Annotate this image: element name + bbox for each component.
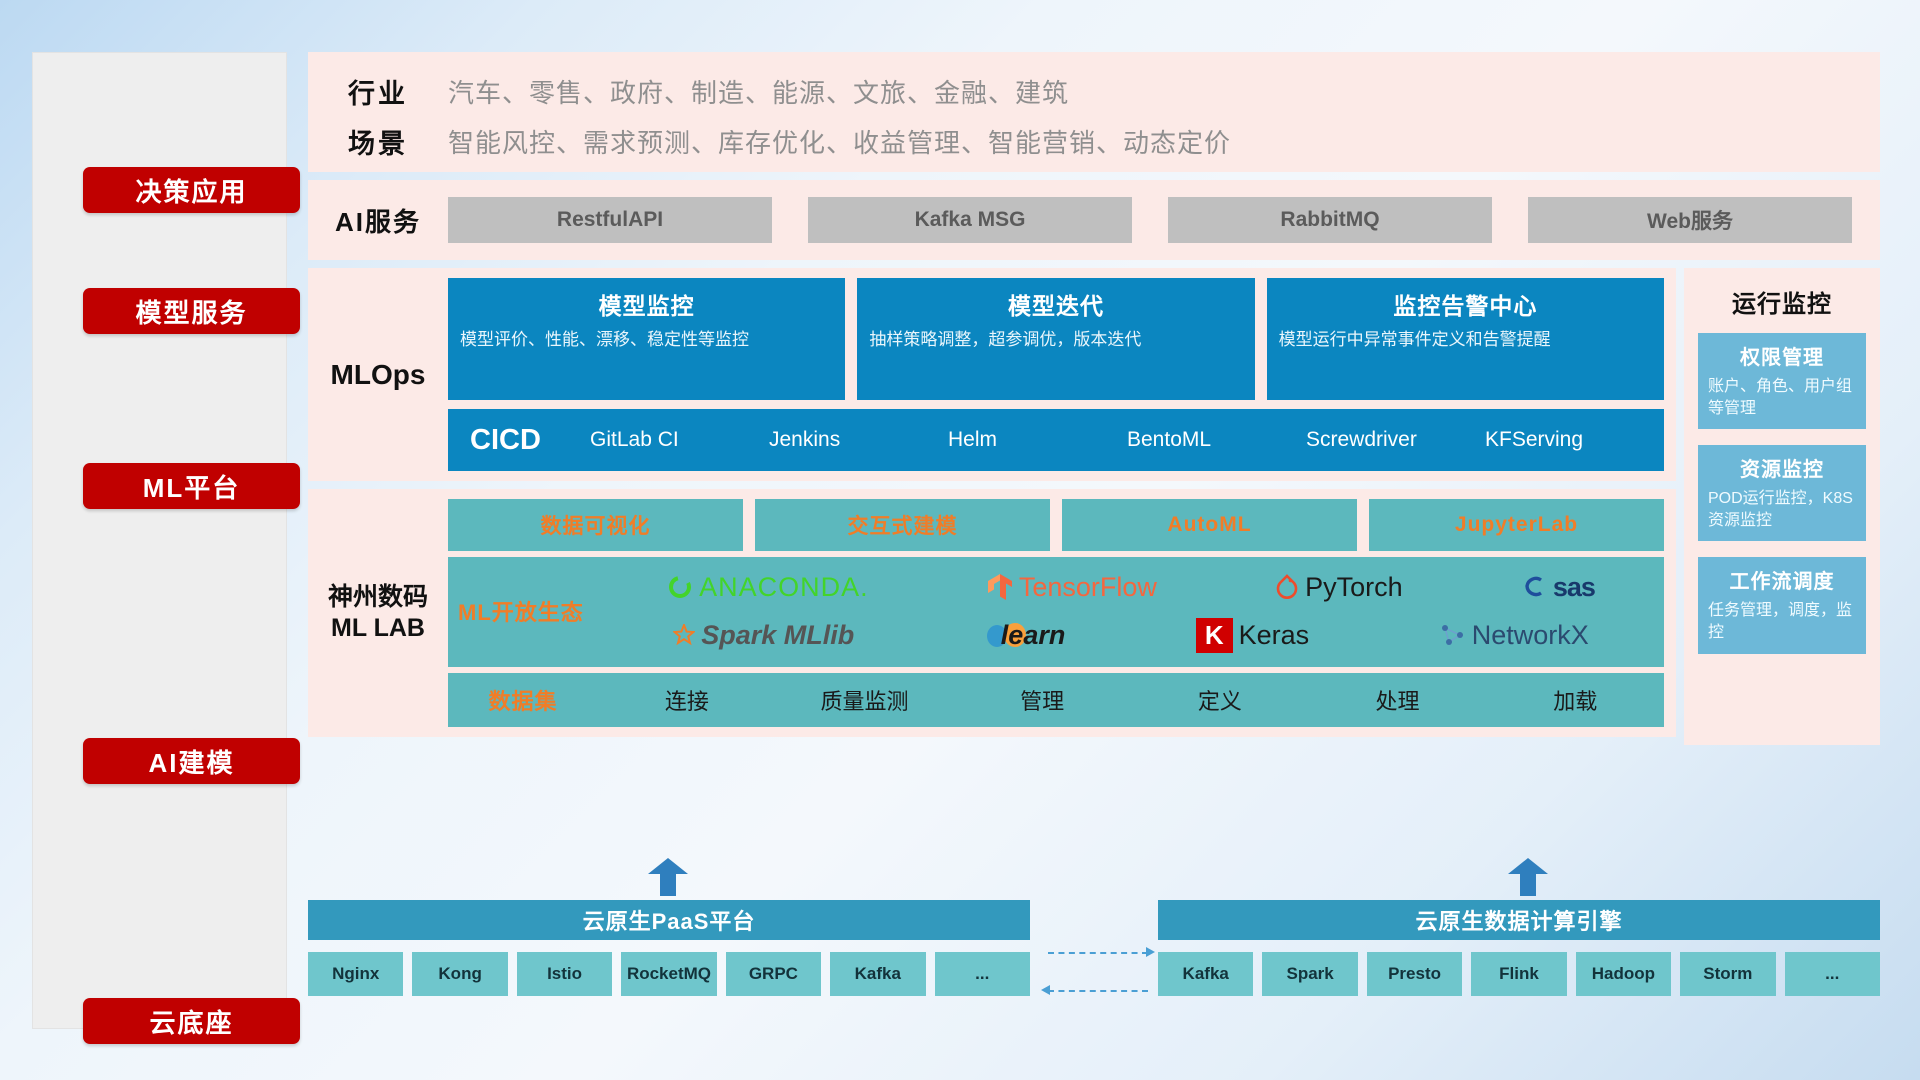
architecture-diagram: 决策应用 模型服务 ML平台 AI建模 云底座 行业 汽车、零售、政府、制造、能… <box>0 0 1920 1080</box>
compute-chip-storm[interactable]: Storm <box>1680 952 1775 996</box>
arrow-up-paas-icon <box>648 858 688 896</box>
stage-chip-label: ML平台 <box>143 468 241 505</box>
stage-chip-label: AI建模 <box>148 743 234 780</box>
scenario-label: 场景 <box>308 122 448 161</box>
ecosystem-logo-grid: ANACONDA. TensorFlow PyTorch <box>608 563 1654 659</box>
cicd-tool-gitlab-ci[interactable]: GitLab CI <box>590 429 769 451</box>
industry-scenario-band: 行业 汽车、零售、政府、制造、能源、文旅、金融、建筑 场景 智能风控、需求预测、… <box>308 52 1880 172</box>
industry-values: 汽车、零售、政府、制造、能源、文旅、金融、建筑 <box>448 73 1069 110</box>
dataset-row: 数据集 连接 质量监测 管理 定义 处理 加载 <box>448 673 1664 727</box>
sas-logo: sas <box>1521 572 1595 603</box>
scikit-learn-logo-text: learn <box>1001 620 1066 651</box>
ecosystem-logo-row-2: Spark MLlib learn K Keras <box>608 611 1654 659</box>
ml-open-ecosystem: ML开放生态 ANACONDA. TensorFlow <box>448 557 1664 667</box>
mlops-card-model-iteration[interactable]: 模型迭代 抽样策略调整，超参调优，版本迭代 <box>857 278 1254 400</box>
tensorflow-logo: TensorFlow <box>987 572 1157 603</box>
paas-platform-group: 云原生PaaS平台 Nginx Kong Istio RocketMQ GRPC… <box>308 900 1030 996</box>
compute-chip-spark[interactable]: Spark <box>1262 952 1357 996</box>
stage-chip-decision-app[interactable]: 决策应用 <box>83 167 300 213</box>
paas-chip-more[interactable]: ... <box>935 952 1030 996</box>
monitor-card-desc: POD运行监控，K8S资源监控 <box>1708 488 1856 531</box>
platform-left-column: MLOps 模型监控 模型评价、性能、漂移、稳定性等监控 模型迭代 抽样策略调整… <box>308 268 1676 745</box>
monitor-card-title: 权限管理 <box>1708 341 1856 370</box>
cloud-base-section: 云原生PaaS平台 Nginx Kong Istio RocketMQ GRPC… <box>308 890 1880 1030</box>
connector-arrow-right-icon <box>1146 947 1155 957</box>
ml-lab-label-line1: 神州数码 <box>308 582 448 613</box>
data-compute-engine-title: 云原生数据计算引擎 <box>1158 900 1880 940</box>
tool-tab-interactive-modeling[interactable]: 交互式建模 <box>755 499 1050 551</box>
mlops-body: 模型监控 模型评价、性能、漂移、稳定性等监控 模型迭代 抽样策略调整，超参调优，… <box>448 278 1676 471</box>
stage-chip-label: 模型服务 <box>135 293 247 330</box>
industry-label: 行业 <box>308 72 448 111</box>
compute-chip-presto[interactable]: Presto <box>1367 952 1462 996</box>
ml-lab-label: 神州数码 ML LAB <box>308 582 448 645</box>
keras-logo: K Keras <box>1196 618 1309 653</box>
ml-open-ecosystem-label: ML开放生态 <box>458 595 608 627</box>
paas-platform-chips: Nginx Kong Istio RocketMQ GRPC Kafka ... <box>308 952 1030 996</box>
industry-row: 行业 汽车、零售、政府、制造、能源、文旅、金融、建筑 <box>308 66 1880 116</box>
compute-chip-flink[interactable]: Flink <box>1471 952 1566 996</box>
dataset-item-connect[interactable]: 连接 <box>598 684 776 716</box>
dataset-item-quality-monitor[interactable]: 质量监测 <box>776 684 954 716</box>
mlops-card-desc: 抽样策略调整，超参调优，版本迭代 <box>869 329 1242 352</box>
runtime-monitoring-panel: 运行监控 权限管理 账户、角色、用户组等管理 资源监控 POD运行监控，K8S资… <box>1684 268 1880 745</box>
compute-chip-hadoop[interactable]: Hadoop <box>1576 952 1671 996</box>
scenario-row: 场景 智能风控、需求预测、库存优化、收益管理、智能营销、动态定价 <box>308 116 1880 166</box>
cicd-tool-screwdriver[interactable]: Screwdriver <box>1306 429 1485 451</box>
mlops-card-title: 模型监控 <box>460 287 833 321</box>
tool-tab-jupyterlab[interactable]: JupyterLab <box>1369 499 1664 551</box>
mlops-cards: 模型监控 模型评价、性能、漂移、稳定性等监控 模型迭代 抽样策略调整，超参调优，… <box>448 278 1664 400</box>
compute-chip-more[interactable]: ... <box>1785 952 1880 996</box>
ai-service-item-rabbitmq[interactable]: RabbitMQ <box>1168 197 1492 243</box>
mlops-card-title: 监控告警中心 <box>1279 287 1652 321</box>
data-compute-engine-group: 云原生数据计算引擎 Kafka Spark Presto Flink Hadoo… <box>1158 900 1880 996</box>
tool-tab-data-visualization[interactable]: 数据可视化 <box>448 499 743 551</box>
spark-mllib-logo-text: Spark MLlib <box>701 620 854 651</box>
connector-dashed-left <box>1048 990 1148 992</box>
networkx-logo-text: NetworkX <box>1472 620 1589 651</box>
ai-service-band: AI服务 RestfulAPI Kafka MSG RabbitMQ Web服务 <box>308 180 1880 260</box>
keras-logo-text: Keras <box>1239 620 1310 651</box>
scikit-learn-logo: learn <box>985 620 1066 651</box>
sas-logo-text: sas <box>1553 572 1595 603</box>
mlops-band: MLOps 模型监控 模型评价、性能、漂移、稳定性等监控 模型迭代 抽样策略调整… <box>308 268 1676 481</box>
ml-lab-label-line2: ML LAB <box>308 613 448 644</box>
tensorflow-logo-text: TensorFlow <box>1019 572 1157 603</box>
stage-rail: 决策应用 模型服务 ML平台 AI建模 云底座 <box>32 52 287 1029</box>
monitor-card-title: 工作流调度 <box>1708 565 1856 594</box>
dataset-items: 连接 质量监测 管理 定义 处理 加载 <box>598 684 1664 716</box>
cicd-tool-helm[interactable]: Helm <box>948 429 1127 451</box>
mlops-card-desc: 模型评价、性能、漂移、稳定性等监控 <box>460 329 833 352</box>
ecosystem-logo-row-1: ANACONDA. TensorFlow PyTorch <box>608 563 1654 611</box>
modeling-tool-tabs: 数据可视化 交互式建模 AutoML JupyterLab <box>448 499 1664 551</box>
dataset-item-load[interactable]: 加载 <box>1486 684 1664 716</box>
ai-service-label: AI服务 <box>308 202 448 239</box>
dataset-item-define[interactable]: 定义 <box>1131 684 1309 716</box>
cicd-row: CICD GitLab CI Jenkins Helm BentoML Scre… <box>448 409 1664 471</box>
dataset-label: 数据集 <box>448 684 598 716</box>
cicd-tool-kfserving[interactable]: KFServing <box>1485 429 1664 451</box>
ai-service-items: RestfulAPI Kafka MSG RabbitMQ Web服务 <box>448 197 1880 243</box>
stage-chip-label: 云底座 <box>149 1003 233 1040</box>
monitor-card-desc: 任务管理，调度，监控 <box>1708 600 1856 643</box>
connector-arrow-left-icon <box>1041 985 1050 995</box>
runtime-monitoring-title: 运行监控 <box>1698 284 1866 319</box>
mlops-card-alert-center[interactable]: 监控告警中心 模型运行中异常事件定义和告警提醒 <box>1267 278 1664 400</box>
ai-service-item-kafka-msg[interactable]: Kafka MSG <box>808 197 1132 243</box>
stage-chip-cloud-base[interactable]: 云底座 <box>83 998 300 1044</box>
paas-chip-rocketmq[interactable]: RocketMQ <box>621 952 716 996</box>
stage-chip-model-service[interactable]: 模型服务 <box>83 288 300 334</box>
pytorch-logo: PyTorch <box>1275 572 1403 603</box>
mlops-card-desc: 模型运行中异常事件定义和告警提醒 <box>1279 329 1652 352</box>
anaconda-logo-text: ANACONDA. <box>699 572 869 603</box>
cicd-tool-bentoml[interactable]: BentoML <box>1127 429 1306 451</box>
data-compute-engine-chips: Kafka Spark Presto Flink Hadoop Storm ..… <box>1158 952 1880 996</box>
monitor-card-workflow-scheduling[interactable]: 工作流调度 任务管理，调度，监控 <box>1698 557 1866 653</box>
main-stack: 行业 汽车、零售、政府、制造、能源、文旅、金融、建筑 场景 智能风控、需求预测、… <box>308 52 1880 745</box>
monitor-card-desc: 账户、角色、用户组等管理 <box>1708 376 1856 419</box>
paas-chip-istio[interactable]: Istio <box>517 952 612 996</box>
tool-tab-automl[interactable]: AutoML <box>1062 499 1357 551</box>
paas-chip-kong[interactable]: Kong <box>412 952 507 996</box>
scenario-values: 智能风控、需求预测、库存优化、收益管理、智能营销、动态定价 <box>448 123 1231 160</box>
ai-modeling-body: 数据可视化 交互式建模 AutoML JupyterLab ML开放生态 <box>448 499 1676 727</box>
pytorch-logo-text: PyTorch <box>1305 572 1403 603</box>
cicd-tool-jenkins[interactable]: Jenkins <box>769 429 948 451</box>
stage-chip-ml-platform[interactable]: ML平台 <box>83 463 300 509</box>
connector-dashed-right <box>1048 952 1148 954</box>
arrow-up-compute-icon <box>1508 858 1548 896</box>
stage-chip-label: 决策应用 <box>135 172 247 209</box>
paas-chip-nginx[interactable]: Nginx <box>308 952 403 996</box>
dataset-item-process[interactable]: 处理 <box>1309 684 1487 716</box>
paas-chip-grpc[interactable]: GRPC <box>726 952 821 996</box>
monitor-card-title: 资源监控 <box>1708 453 1856 482</box>
paas-platform-title: 云原生PaaS平台 <box>308 900 1030 940</box>
dataset-item-manage[interactable]: 管理 <box>953 684 1131 716</box>
mlops-card-model-monitoring[interactable]: 模型监控 模型评价、性能、漂移、稳定性等监控 <box>448 278 845 400</box>
keras-logo-mark: K <box>1196 618 1233 653</box>
monitor-card-permission-management[interactable]: 权限管理 账户、角色、用户组等管理 <box>1698 333 1866 429</box>
networkx-logo: NetworkX <box>1440 620 1589 651</box>
anaconda-logo: ANACONDA. <box>667 572 869 603</box>
paas-chip-kafka[interactable]: Kafka <box>830 952 925 996</box>
mlops-card-title: 模型迭代 <box>869 287 1242 321</box>
mlops-label: MLOps <box>308 359 448 391</box>
monitor-card-resource-monitoring[interactable]: 资源监控 POD运行监控，K8S资源监控 <box>1698 445 1866 541</box>
ai-modeling-band: 神州数码 ML LAB 数据可视化 交互式建模 AutoML JupyterLa… <box>308 489 1676 737</box>
compute-chip-kafka[interactable]: Kafka <box>1158 952 1253 996</box>
ai-service-item-restfulapi[interactable]: RestfulAPI <box>448 197 772 243</box>
cicd-tools: GitLab CI Jenkins Helm BentoML Screwdriv… <box>590 429 1664 451</box>
spark-mllib-logo: Spark MLlib <box>673 620 854 651</box>
cicd-label: CICD <box>470 424 590 457</box>
ai-service-item-web-service[interactable]: Web服务 <box>1528 197 1852 243</box>
platform-split: MLOps 模型监控 模型评价、性能、漂移、稳定性等监控 模型迭代 抽样策略调整… <box>308 268 1880 745</box>
stage-chip-ai-modeling[interactable]: AI建模 <box>83 738 300 784</box>
